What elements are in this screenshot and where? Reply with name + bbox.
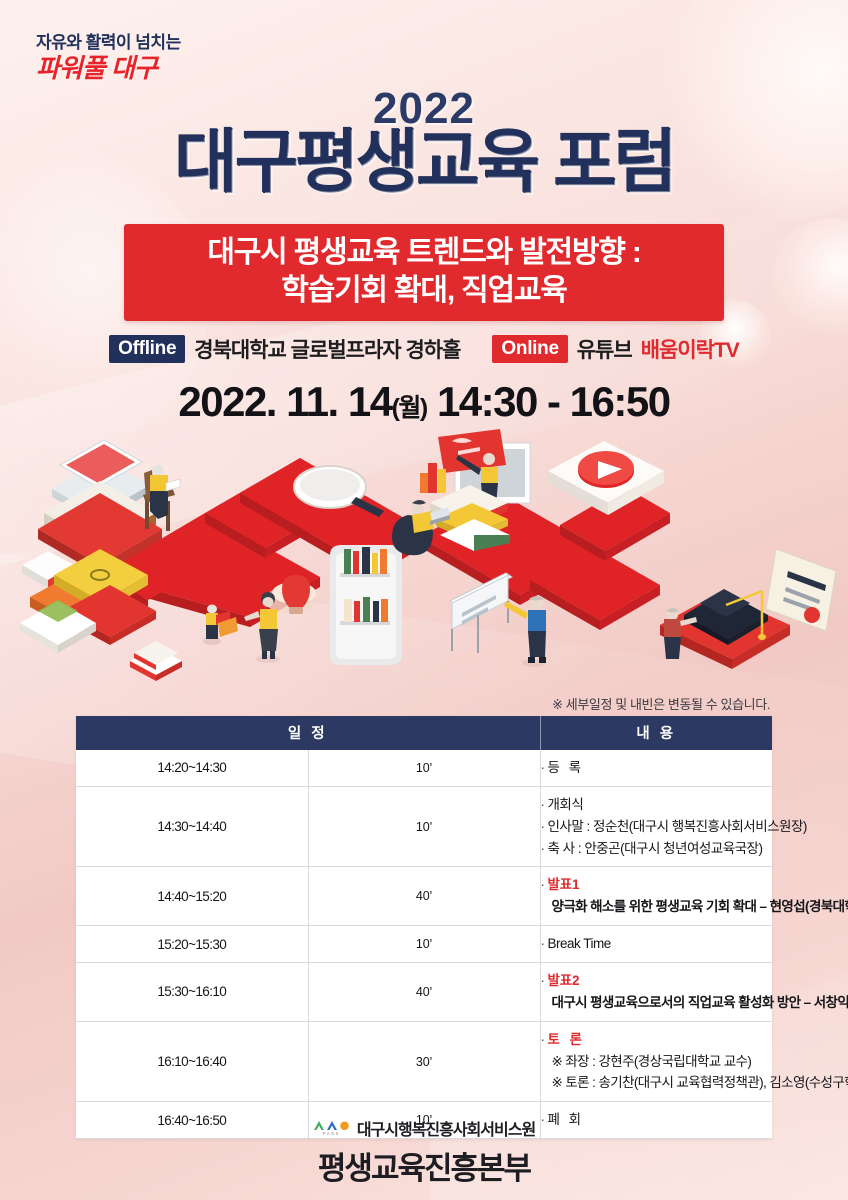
event-poster: 자유와 활력이 넘치는 파워풀 대구 2022 대구평생교육 포럼 대구시 평생… [0,0,848,1200]
pass-logo: PASS [313,1120,350,1137]
cell-content: ·발표1양극화 해소를 위한 평생교육 기회 확대 – 현영섭(경북대학교 교수… [540,867,772,926]
online-badge: Online [492,335,567,364]
online-platform-text: 유튜브 [577,334,632,364]
content-text: 토 론 [548,1032,586,1047]
subtitle-banner: 대구시 평생교육 트렌드와 발전방향 : 학습기회 확대, 직업교육 [124,224,724,321]
content-line: 대구시 평생교육으로서의 직업교육 활성화 방안 – 서창익(가람과 사람㈜ 대… [541,992,773,1014]
cell-time: 14:20~14:30 [76,750,308,786]
table-row: 16:10~16:4030'·토 론※ 좌장 : 강현주(경상국립대학교 교수)… [76,1021,772,1102]
cell-content: ·등 록 [540,750,772,786]
cell-duration: 10' [308,786,540,867]
brand-city-name: 파워풀 대구 [36,55,181,82]
pass-blue-chevron-icon [326,1120,338,1131]
bullet-icon: · [541,797,545,812]
table-header-row: 일 정 내 용 [76,716,772,750]
city-brand-logo: 자유와 활력이 넘치는 파워풀 대구 [36,34,181,82]
event-datetime: 2022. 11. 14(월) 14:30 - 16:50 [0,378,848,426]
content-text: 양극화 해소를 위한 평생교육 기회 확대 – 현영섭(경북대학교 교수) [541,899,848,914]
event-date: 2022. 11. 14 [178,378,391,425]
cell-content: ·Break Time [540,926,772,963]
content-text: ※ 좌장 : 강현주(경상국립대학교 교수) [541,1054,752,1069]
cell-duration: 40' [308,867,540,926]
content-line: 양극화 해소를 위한 평생교육 기회 확대 – 현영섭(경북대학교 교수) [541,896,773,918]
content-text: 발표1 [548,877,580,892]
pass-orange-circle-icon [339,1120,350,1131]
brand-tagline: 자유와 활력이 넘치는 [36,34,181,53]
subtitle-line-1: 대구시 평생교육 트렌드와 발전방향 : [124,234,724,272]
bullet-icon: · [541,973,545,988]
content-text: ※ 토론 : 송기찬(대구시 교육협력정책관), 김소영(수성구학습관장), 김… [541,1075,848,1090]
cell-time: 15:20~15:30 [76,926,308,963]
cell-duration: 40' [308,963,540,1022]
table-row: 14:20~14:3010'·등 록 [76,750,772,786]
content-text: 개회식 [548,797,584,812]
content-line: ·등 록 [541,757,773,779]
cell-time: 16:10~16:40 [76,1021,308,1102]
person-reading-chair [143,465,180,531]
content-line: ·축 사 : 안중곤(대구시 청년여성교육국장) [541,838,773,860]
event-dayofweek: (월) [392,394,427,422]
content-line: ※ 토론 : 송기찬(대구시 교육협력정책관), 김소영(수성구학습관장), 김… [541,1072,773,1094]
content-text: 대구시 평생교육으로서의 직업교육 활성화 방안 – 서창익(가람과 사람㈜ 대… [541,995,848,1010]
cell-content: ·발표2대구시 평생교육으로서의 직업교육 활성화 방안 – 서창익(가람과 사… [540,963,772,1022]
table-row: 15:20~15:3010'·Break Time [76,926,772,963]
schedule-table: 일 정 내 용 14:20~14:3010'·등 록14:30~14:4010'… [76,716,772,1139]
offline-venue-text: 경북대학교 글로벌프라자 경하홀 [194,334,460,364]
cell-content: ·토 론※ 좌장 : 강현주(경상국립대학교 교수)※ 토론 : 송기찬(대구시… [540,1021,772,1102]
pass-logo-marks [313,1120,350,1131]
content-line: ·인사말 : 정순천(대구시 행복진흥사회서비스원장) [541,816,773,838]
schedule-table-body: 14:20~14:3010'·등 록14:30~14:4010'·개회식·인사말… [76,750,772,1139]
bullet-icon: · [541,841,545,856]
pass-logo-caption: PASS [323,1132,340,1137]
footer-division: 평생교육진흥본부 [0,1143,848,1188]
bullet-icon: · [541,760,545,775]
presenting-person [504,596,546,667]
bullet-icon: · [541,936,545,951]
content-line: ·발표2 [541,970,773,992]
online-channel-text: 배움이락TV [641,334,739,364]
cell-time: 14:40~15:20 [76,867,308,926]
cell-duration: 30' [308,1021,540,1102]
schedule-table-head: 일 정 내 용 [76,716,772,750]
column-header-content: 내 용 [540,716,772,750]
content-line: ·개회식 [541,794,773,816]
page-title: 대구평생교육 포럼 [0,126,848,198]
column-header-schedule: 일 정 [76,716,540,750]
bookshelf [330,545,402,665]
table-row: 14:40~15:2040'·발표1양극화 해소를 위한 평생교육 기회 확대 … [76,867,772,926]
decorative-circle-medium [772,218,848,338]
content-line: ·Break Time [541,933,773,955]
content-text: Break Time [548,936,611,951]
small-book-bottom [130,641,182,681]
cell-duration: 10' [308,750,540,786]
table-row: 14:30~14:4010'·개회식·인사말 : 정순천(대구시 행복진흥사회서… [76,786,772,867]
cell-time: 14:30~14:40 [76,786,308,867]
content-line: ※ 좌장 : 강현주(경상국립대학교 교수) [541,1051,773,1073]
footer-organization: 대구시행복진흥사회서비스원 [357,1116,535,1140]
content-text: 인사말 : 정순천(대구시 행복진흥사회서비스원장) [548,819,807,834]
footer: PASS 대구시행복진흥사회서비스원 평생교육진흥본부 [0,1116,848,1188]
content-text: 축 사 : 안중곤(대구시 청년여성교육국장) [548,841,763,856]
schedule-table-wrapper: 일 정 내 용 14:20~14:3010'·등 록14:30~14:4010'… [76,716,772,1139]
diploma-scroll [766,549,836,631]
bullet-icon: · [541,877,545,892]
event-time: 14:30 - 16:50 [437,378,670,425]
content-line: ·발표1 [541,874,773,896]
content-line: ·토 론 [541,1029,773,1051]
bullet-icon: · [541,1032,545,1047]
bullet-icon: · [541,819,545,834]
schedule-disclaimer-note: ※ 세부일정 및 내빈은 변동될 수 있습니다. [552,694,770,713]
table-row: 15:30~16:1040'·발표2대구시 평생교육으로서의 직업교육 활성화 … [76,963,772,1022]
cell-duration: 10' [308,926,540,963]
content-text: 발표2 [548,973,580,988]
footer-logo-row: PASS 대구시행복진흥사회서비스원 [0,1116,848,1140]
offline-badge: Offline [109,335,185,364]
isometric-lifelong-learning-illustration [0,425,848,690]
pass-green-chevron-icon [313,1120,325,1131]
venue-row: Offline 경북대학교 글로벌프라자 경하홀 Online 유튜브 배움이락… [0,334,848,364]
content-text: 등 록 [548,760,584,775]
cell-content: ·개회식·인사말 : 정순천(대구시 행복진흥사회서비스원장)·축 사 : 안중… [540,786,772,867]
cell-time: 15:30~16:10 [76,963,308,1022]
subtitle-line-2: 학습기회 확대, 직업교육 [124,272,724,310]
